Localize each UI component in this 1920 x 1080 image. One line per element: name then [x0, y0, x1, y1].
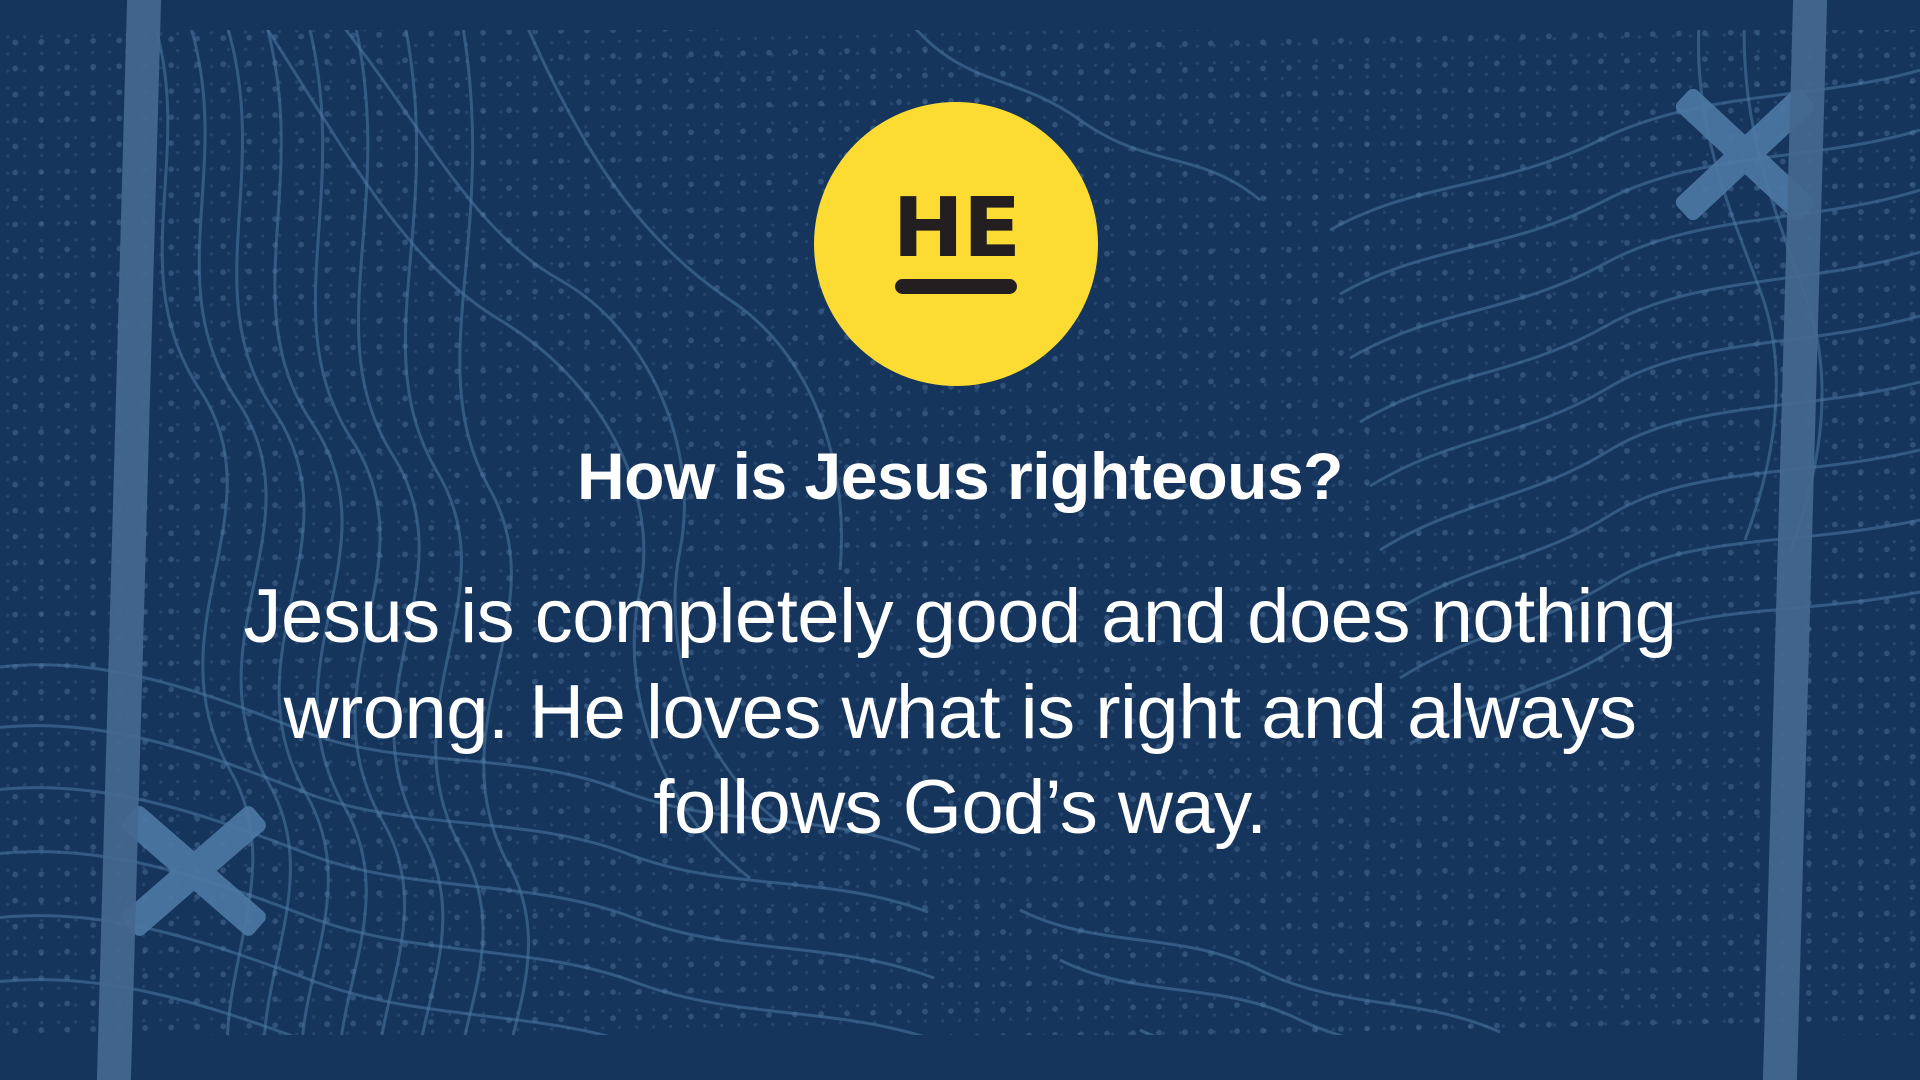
- body-copy-line: wrong. He loves what is right and always: [100, 665, 1820, 761]
- badge-glyph-group: HE: [814, 102, 1098, 386]
- slide-canvas: HE How is Jesus righteous? Jesus is comp…: [0, 0, 1920, 1080]
- badge-monogram: HE: [892, 194, 1020, 265]
- body-copy-line: follows God’s way.: [100, 760, 1820, 856]
- body-copy-line: Jesus is completely good and does nothin…: [100, 569, 1820, 665]
- he-circle-badge-icon: HE: [806, 96, 1114, 396]
- body-copy: Jesus is completely good and does nothin…: [100, 569, 1820, 856]
- slide-content: HE How is Jesus righteous? Jesus is comp…: [0, 0, 1920, 1080]
- page-title: How is Jesus righteous?: [577, 442, 1343, 511]
- badge-underline-bar: [895, 279, 1017, 294]
